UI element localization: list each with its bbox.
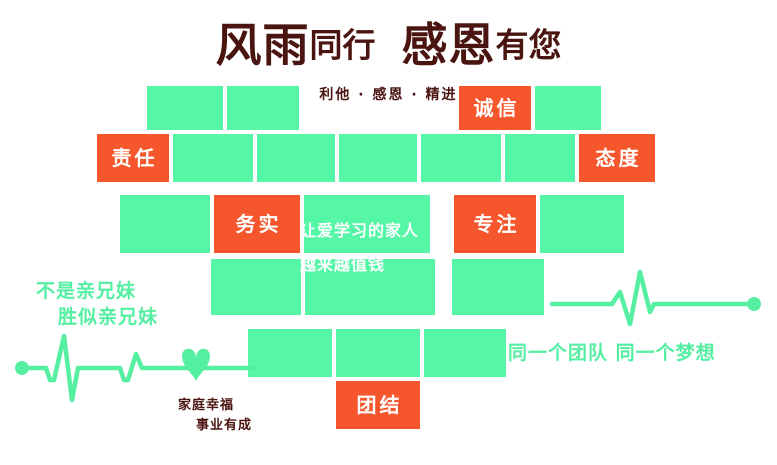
photo-frame-r3-c3[interactable]: [304, 195, 430, 253]
value-tile-label: 专注: [471, 214, 520, 234]
subtitle: 利他 · 感恩 · 精进: [0, 84, 777, 104]
value-tile-label: 团结: [354, 395, 403, 415]
poster-canvas: 风雨同行感恩有您 利他 · 感恩 · 精进 诚信责任态度务实专注团结 让爱学习的…: [0, 0, 777, 465]
heartbeat-line-right-icon: [550, 268, 765, 338]
value-tile-r2-c7[interactable]: 态度: [579, 134, 655, 182]
value-tile-r1-c3[interactable]: 诚信: [459, 86, 531, 130]
left-slogan-line1: 不是亲兄妹: [36, 278, 236, 304]
bottom-slogan-line2: 事业有成: [178, 416, 308, 436]
bottom-slogan-line1: 家庭幸福: [178, 396, 308, 416]
right-slogan: 同一个团队 同一个梦想: [508, 338, 716, 365]
left-slogan-line2: 胜似亲兄妹: [36, 304, 236, 330]
photo-frame-r2-c3[interactable]: [257, 134, 335, 182]
heartbeat-line-left-icon: [14, 334, 274, 404]
photo-frame-r2-c4[interactable]: [339, 134, 417, 182]
title-part1-small: 同行: [310, 26, 376, 65]
photo-frame-r5-c2[interactable]: [336, 329, 420, 377]
title-part2-big: 感恩: [402, 18, 496, 72]
photo-frame-r4-c2[interactable]: [305, 259, 435, 315]
value-tile-label: 诚信: [471, 98, 520, 118]
photo-frame-r1-c2[interactable]: [227, 86, 299, 130]
value-tile-r6-c1[interactable]: 团结: [336, 381, 420, 429]
title-part2-small: 有您: [496, 26, 562, 65]
photo-frame-r1-c4[interactable]: [535, 86, 601, 130]
value-tile-r3-c4[interactable]: 专注: [454, 195, 536, 253]
photo-frame-r2-c2[interactable]: [173, 134, 253, 182]
page-title: 风雨同行感恩有您: [0, 22, 777, 68]
bottom-slogan: 家庭幸福 事业有成: [178, 396, 308, 436]
left-slogan: 不是亲兄妹 胜似亲兄妹: [36, 278, 236, 330]
value-tile-label: 态度: [593, 148, 642, 168]
photo-frame-r2-c5[interactable]: [421, 134, 501, 182]
photo-frame-r4-c3[interactable]: [452, 259, 544, 315]
photo-frame-r5-c3[interactable]: [424, 329, 506, 377]
value-tile-r2-c1[interactable]: 责任: [97, 134, 169, 182]
photo-frame-r3-c5[interactable]: [540, 195, 624, 253]
value-tile-r3-c2[interactable]: 务实: [214, 195, 300, 253]
photo-frame-r1-c1[interactable]: [147, 86, 223, 130]
photo-frame-r3-c1[interactable]: [120, 195, 210, 253]
value-tile-label: 务实: [233, 214, 282, 234]
value-tile-label: 责任: [109, 148, 158, 168]
photo-frame-r2-c6[interactable]: [505, 134, 575, 182]
title-part1-big: 风雨: [216, 18, 310, 72]
